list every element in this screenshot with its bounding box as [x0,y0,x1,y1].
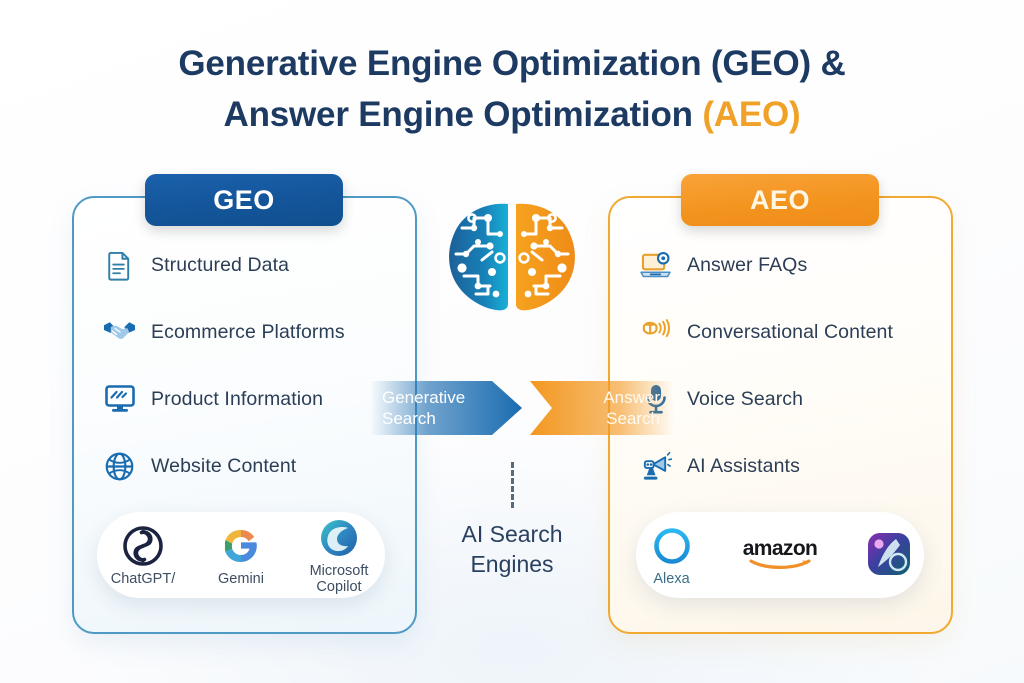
aeo-feature-label: AI Assistants [687,455,800,478]
geo-logo-label: Microsoft Copilot [310,563,369,595]
generative-search-band: Generative Search [370,377,522,439]
infographic-canvas: Generative Engine Optimization (GEO) & A… [0,0,1024,683]
geo-feature-label: Product Information [151,388,323,411]
page-title: Generative Engine Optimization (GEO) & A… [0,38,1024,140]
title-line-2-main: Answer Engine Optimization [224,95,703,134]
title-line-1: Generative Engine Optimization (GEO) & [0,38,1024,89]
geo-feature-website-content[interactable]: Website Content [103,449,345,483]
aeo-logo-card: Alexa amazon [636,512,924,598]
aeo-feature-conversational-content[interactable]: Conversational Content [639,315,893,349]
geo-logo-microsoft-copilot[interactable]: Microsoft Copilot [301,515,377,595]
generative-search-label: Generative Search [382,387,465,429]
aeo-badge: AEO [681,174,879,226]
geo-feature-list: Structured Data Ecommerce Platforms [103,248,345,483]
copilot-app-icon [866,531,912,577]
aeo-feature-answer-faqs[interactable]: Answer FAQs [639,248,893,282]
aeo-feature-ai-assistants[interactable]: AI Assistants [639,449,893,483]
aeo-feature-list: Answer FAQs Conversational Cont [639,248,893,483]
title-line-2-accent: (AEO) [702,95,800,134]
laptop-answer-icon [639,249,672,282]
geo-feature-product-information[interactable]: Product Information [103,382,345,416]
geo-logo-label: ChatGPT/ [111,571,175,587]
ai-search-engines-caption: AI Search Engines [412,519,612,579]
aeo-feature-voice-search[interactable]: Voice Search [639,382,893,416]
aeo-logo-amazon[interactable]: amazon [735,531,825,579]
geo-feature-label: Ecommerce Platforms [151,321,345,344]
aeo-badge-label: AEO [750,185,810,216]
geo-feature-label: Website Content [151,455,296,478]
ai-brain-icon [432,198,592,323]
aeo-logo-label: Alexa [653,571,689,587]
answer-search-band: Answer Search [522,377,674,439]
handshake-icon [103,316,136,349]
google-gemini-logo [221,523,261,569]
geo-logo-label: Gemini [218,571,264,587]
monitor-icon [103,383,136,416]
aeo-feature-label: Voice Search [687,388,803,411]
robot-megaphone-icon [639,450,672,483]
microsoft-copilot-logo [318,515,360,561]
geo-feature-label: Structured Data [151,254,289,277]
globe-icon [103,450,136,483]
geo-logo-gemini[interactable]: Gemini [203,523,279,587]
document-icon [103,249,136,282]
geo-badge-label: GEO [213,185,275,216]
answer-search-label: Answer Search [603,387,660,429]
geo-logo-card: ChatGPT/ Gemini [97,512,385,598]
chatgpt-logo [122,523,164,569]
geo-logo-chatgpt[interactable]: ChatGPT/ [105,523,181,587]
geo-feature-ecommerce-platforms[interactable]: Ecommerce Platforms [103,315,345,349]
connector-dashed-line [511,462,514,508]
broadcast-icon [639,316,672,349]
geo-badge: GEO [145,174,343,226]
geo-feature-structured-data[interactable]: Structured Data [103,248,345,282]
aeo-feature-label: Conversational Content [687,321,893,344]
aeo-feature-label: Answer FAQs [687,254,807,277]
svg-text:amazon: amazon [743,537,818,560]
aeo-logo-alexa[interactable]: Alexa [636,523,707,587]
title-line-2: Answer Engine Optimization (AEO) [0,89,1024,140]
alexa-logo [651,523,693,569]
amazon-logo: amazon [735,531,825,577]
aeo-logo-copilot-app[interactable] [853,531,924,579]
